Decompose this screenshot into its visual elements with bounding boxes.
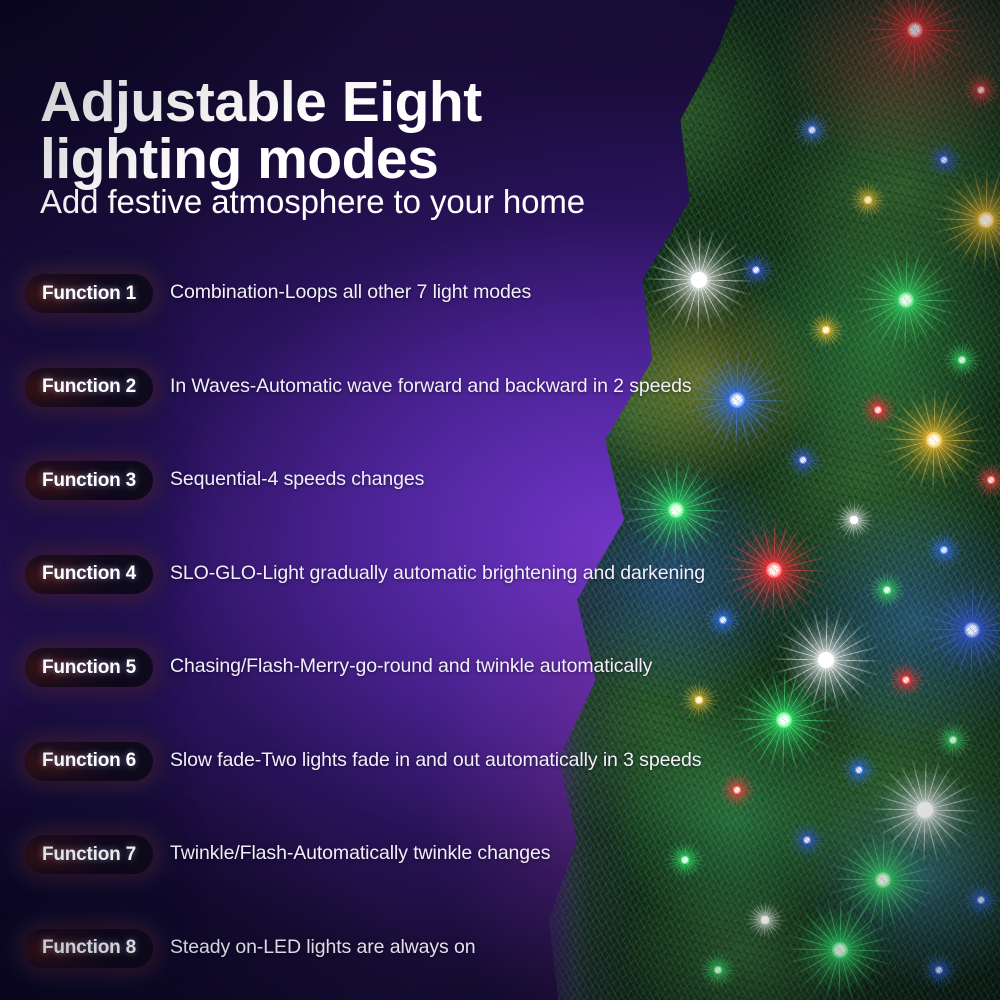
led-core — [850, 516, 858, 524]
led-light — [929, 435, 939, 445]
function-description: Sequential-4 speeds changes — [170, 468, 424, 491]
function-badge-label: Function 1 — [42, 283, 136, 305]
led-light — [849, 515, 859, 525]
led-light — [798, 455, 808, 465]
led-light — [910, 25, 920, 35]
led-light — [939, 155, 949, 165]
led-core — [855, 766, 863, 774]
led-core — [940, 156, 948, 164]
function-badge: Function 5 — [25, 648, 153, 687]
function-badge: Function 7 — [25, 835, 153, 874]
led-light — [821, 655, 831, 665]
led-core — [864, 196, 872, 204]
led-core — [808, 126, 816, 134]
led-core — [832, 942, 848, 958]
led-light — [981, 215, 991, 225]
led-core — [949, 736, 957, 744]
led-core — [907, 22, 923, 38]
led-core — [761, 916, 769, 924]
led-core — [875, 872, 891, 888]
led-core — [729, 392, 745, 408]
led-core — [978, 212, 994, 228]
led-core — [803, 836, 811, 844]
led-core — [898, 292, 914, 308]
led-core — [883, 586, 891, 594]
function-badge-label: Function 8 — [42, 937, 136, 959]
led-core — [977, 86, 985, 94]
page-subtitle: Add festive atmosphere to your home — [40, 183, 585, 221]
headline-line-1: Adjustable Eight — [40, 74, 660, 130]
page-title: Adjustable Eight lighting modes — [40, 74, 660, 187]
function-badge-label: Function 4 — [42, 563, 136, 585]
led-light — [863, 195, 873, 205]
led-light — [713, 965, 723, 975]
function-description: Slow fade-Two lights fade in and out aut… — [170, 749, 701, 772]
led-core — [733, 786, 741, 794]
led-light — [939, 545, 949, 555]
led-core — [766, 562, 782, 578]
led-light — [882, 585, 892, 595]
led-core — [917, 802, 933, 818]
lighting-mode-row: Function 5Chasing/Flash-Merry-go-round a… — [0, 642, 700, 736]
function-badge-label: Function 2 — [42, 376, 136, 398]
led-light — [934, 965, 944, 975]
led-light — [854, 765, 864, 775]
function-badge: Function 8 — [25, 929, 153, 968]
led-core — [799, 456, 807, 464]
function-badge-label: Function 3 — [42, 470, 136, 492]
function-badge: Function 3 — [25, 461, 153, 500]
function-description: Chasing/Flash-Merry-go-round and twinkle… — [170, 655, 652, 678]
led-core — [935, 966, 943, 974]
led-core — [822, 326, 830, 334]
function-description: SLO-GLO-Light gradually automatic bright… — [170, 562, 705, 585]
led-light — [821, 325, 831, 335]
led-light — [878, 875, 888, 885]
function-description: In Waves-Automatic wave forward and back… — [170, 375, 692, 398]
function-description: Steady on-LED lights are always on — [170, 936, 476, 959]
led-light — [986, 475, 996, 485]
led-core — [714, 966, 722, 974]
led-core — [964, 622, 980, 638]
lighting-modes-list: Function 1Combination-Loops all other 7 … — [0, 268, 700, 1000]
lighting-mode-row: Function 6Slow fade-Two lights fade in a… — [0, 736, 700, 830]
led-light — [948, 735, 958, 745]
function-badge: Function 1 — [25, 274, 153, 313]
led-light — [976, 895, 986, 905]
led-light — [920, 805, 930, 815]
led-light — [732, 785, 742, 795]
lighting-mode-row: Function 2In Waves-Automatic wave forwar… — [0, 362, 700, 456]
led-light — [967, 625, 977, 635]
led-light — [957, 355, 967, 365]
led-core — [958, 356, 966, 364]
led-light — [769, 565, 779, 575]
function-badge: Function 2 — [25, 368, 153, 407]
led-light — [779, 715, 789, 725]
led-light — [732, 395, 742, 405]
led-light — [835, 945, 845, 955]
function-badge: Function 4 — [25, 555, 153, 594]
led-light — [807, 125, 817, 135]
led-core — [977, 896, 985, 904]
led-core — [719, 616, 727, 624]
led-light — [901, 295, 911, 305]
led-core — [940, 546, 948, 554]
led-core — [776, 712, 792, 728]
function-description: Twinkle/Flash-Automatically twinkle chan… — [170, 842, 550, 865]
led-core — [902, 676, 910, 684]
function-badge-label: Function 6 — [42, 750, 136, 772]
promo-poster: Adjustable Eight lighting modes Add fest… — [0, 0, 1000, 1000]
lighting-mode-row: Function 1Combination-Loops all other 7 … — [0, 268, 700, 362]
headline-line-2: lighting modes — [40, 131, 660, 187]
function-badge-label: Function 7 — [42, 844, 136, 866]
led-light — [901, 675, 911, 685]
led-light — [760, 915, 770, 925]
function-badge-label: Function 5 — [42, 657, 136, 679]
led-light — [976, 85, 986, 95]
lighting-mode-row: Function 4SLO-GLO-Light gradually automa… — [0, 549, 700, 643]
led-light — [802, 835, 812, 845]
lighting-mode-row: Function 8Steady on-LED lights are alway… — [0, 923, 700, 1000]
led-core — [987, 476, 995, 484]
lighting-mode-row: Function 7Twinkle/Flash-Automatically tw… — [0, 829, 700, 923]
function-badge: Function 6 — [25, 742, 153, 781]
led-core — [926, 432, 942, 448]
lighting-mode-row: Function 3Sequential-4 speeds changes — [0, 455, 700, 549]
function-description: Combination-Loops all other 7 light mode… — [170, 281, 531, 304]
led-light — [718, 615, 728, 625]
